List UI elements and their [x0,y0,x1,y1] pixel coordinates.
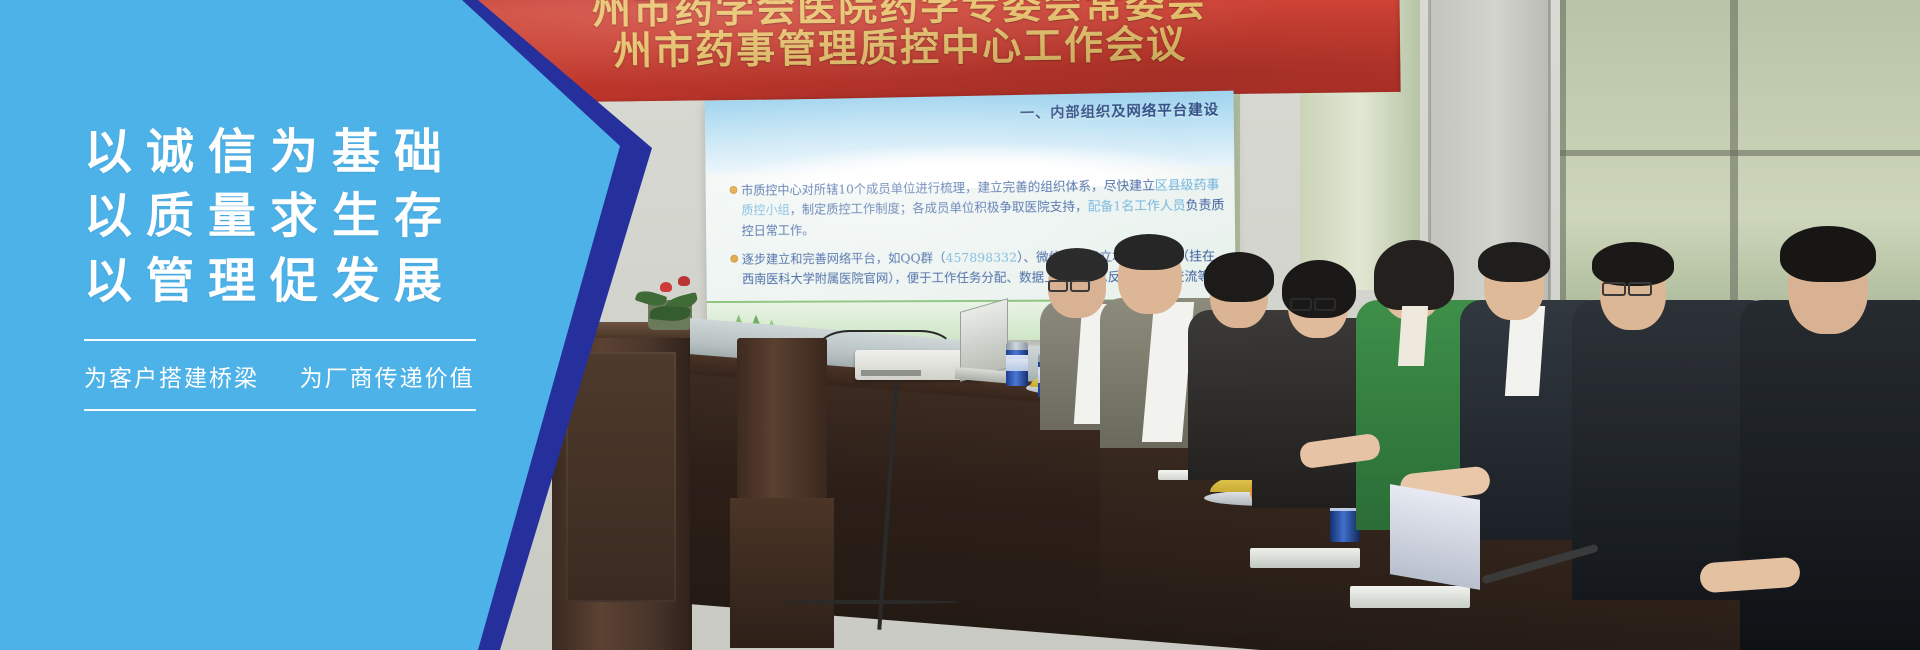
document-stack [1250,548,1360,568]
cable [780,600,960,604]
slogan-line-2: 以质量求生存 [84,184,484,248]
slogan-line-1: 以诚信为基础 [84,120,484,184]
subtitle-row: 为客户搭建桥梁 为厂商传递价值 [84,359,484,393]
notebook [1390,484,1480,590]
divider-bottom [84,409,476,411]
slide-title: 一、内部组织及网络平台建设 [1020,99,1219,123]
slogan-line-3: 以管理促发展 [84,249,484,313]
cable [815,330,955,374]
subtitle-right: 为厂商传递价值 [300,366,475,392]
subtitle-left: 为客户搭建桥梁 [84,366,259,392]
divider-top [84,339,476,341]
slogan-block: 以诚信为基础 以质量求生存 以管理促发展 为客户搭建桥梁 为厂商传递价值 [84,120,484,411]
document-stack [1350,586,1470,608]
can-lid [1006,342,1028,350]
chair-seat [730,498,834,648]
slide-bullet-1: 市质控中心对所辖10个成员单位进行梳理，建立完善的组织体系，尽快建立区县级药事质… [731,174,1225,240]
promo-banner: 州市药学会医院药学专委会常委会 州市药事管理质控中心工作会议 一、内部组织及网络… [0,0,1920,650]
chair [737,338,827,498]
